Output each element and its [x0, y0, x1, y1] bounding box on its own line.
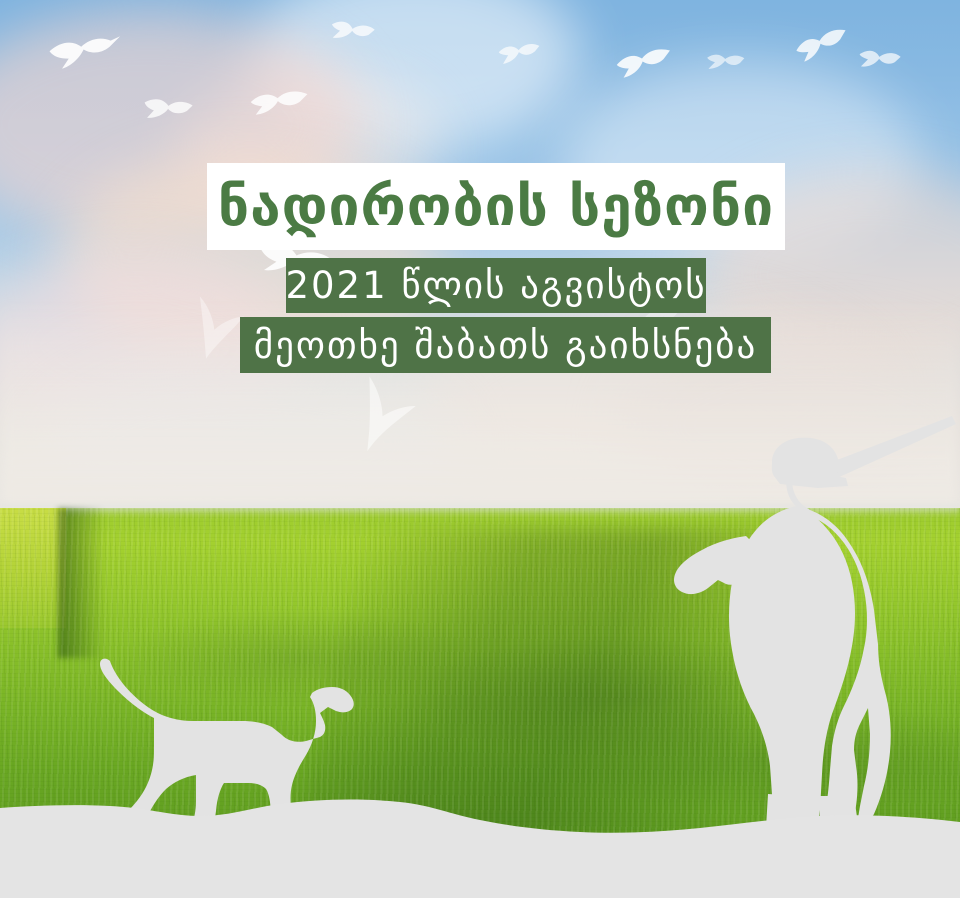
subtitle-band-line1: 2021 წლის აგვისტოს — [286, 258, 706, 313]
subtitle-line2: მეოთხე შაბათს გაიხსნება — [254, 327, 757, 364]
page-title: ნადირობის სეზონი — [218, 179, 774, 234]
subtitle-band-line2: მეოთხე შაბათს გაიხსნება — [240, 317, 771, 373]
hunting-season-poster: ნადირობის სეზონი 2021 წლის აგვისტოს მეოთ… — [0, 0, 960, 898]
subtitle-line1: 2021 წლის აგვისტოს — [285, 267, 706, 304]
headline-band: ნადირობის სეზონი — [207, 163, 785, 250]
foreground-ground-band — [0, 738, 960, 898]
cloud-wisp — [250, 0, 580, 150]
